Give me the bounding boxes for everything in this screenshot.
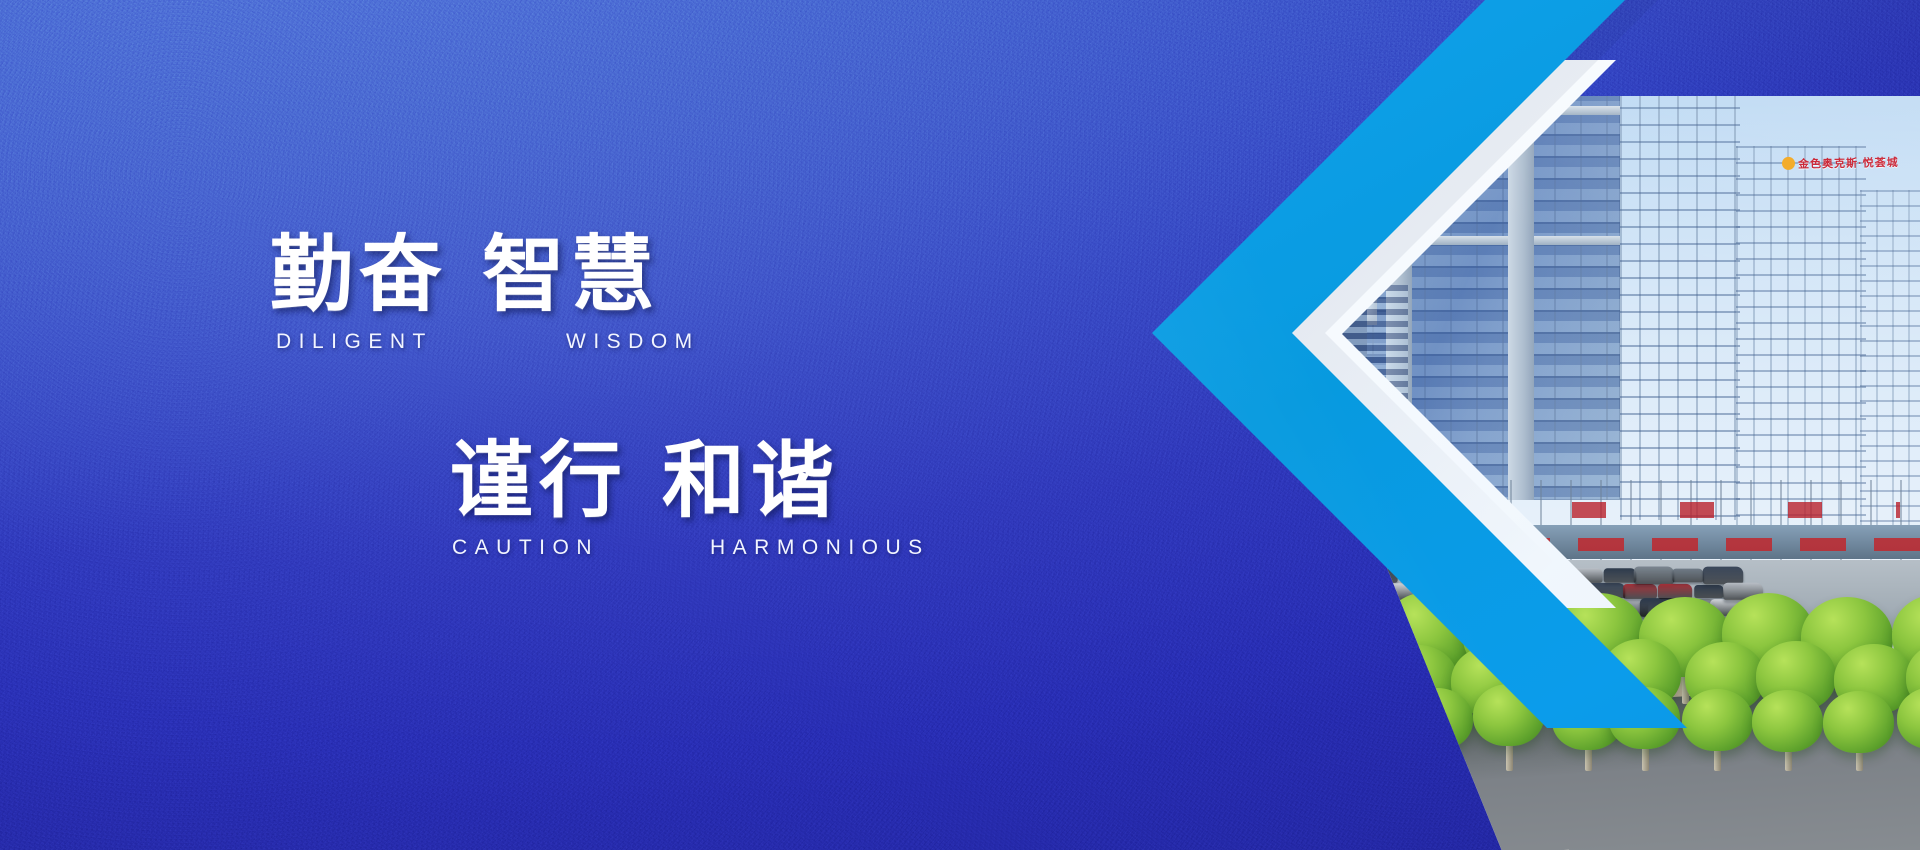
slogan-line-1-chinese: 勤奋智慧 <box>270 232 700 318</box>
hero-banner: 江苏国泰 金色奥克斯·悦荟城 <box>0 0 1920 850</box>
mall-sign: 金色奥克斯·悦荟城 <box>1782 154 1899 172</box>
slogan-2-en-a: CAUTION <box>452 536 710 560</box>
right-building-2 <box>1736 146 1866 526</box>
slogan-line-2-chinese: 谨行和谐 <box>450 438 930 524</box>
right-building-3 <box>1860 190 1920 530</box>
tree <box>1609 687 1680 749</box>
slogan-line-2: 谨行和谐 CAUTION HARMONIOUS <box>450 438 930 560</box>
slogan-1-en-b: WISDOM <box>566 330 700 354</box>
mall-sign-logo-icon <box>1782 157 1795 170</box>
tree <box>1752 690 1823 752</box>
slogan-1-en-a: DILIGENT <box>276 330 566 354</box>
tree <box>1823 691 1894 753</box>
slogan-2-en-b: HARMONIOUS <box>710 536 930 560</box>
tower-column <box>1508 110 1534 500</box>
slogan-2-cn-b: 和谐 <box>662 432 840 529</box>
right-building-1 <box>1620 90 1740 520</box>
slogan-line-1: 勤奋智慧 DILIGENT WISDOM <box>270 232 700 354</box>
slogan-1-cn-b: 智慧 <box>482 226 660 323</box>
slogan-line-2-english: CAUTION HARMONIOUS <box>450 536 930 560</box>
mall-sign-text: 金色奥克斯·悦荟城 <box>1798 157 1899 171</box>
tree <box>1682 689 1753 751</box>
slogan-line-1-english: DILIGENT WISDOM <box>270 330 700 354</box>
tree <box>1473 684 1544 746</box>
slogan-2-cn-a: 谨行 <box>450 432 628 529</box>
slogan-block: 勤奋智慧 DILIGENT WISDOM 谨行和谐 CAUTION HARMON… <box>0 0 1150 850</box>
slogan-1-cn-a: 勤奋 <box>270 226 448 323</box>
